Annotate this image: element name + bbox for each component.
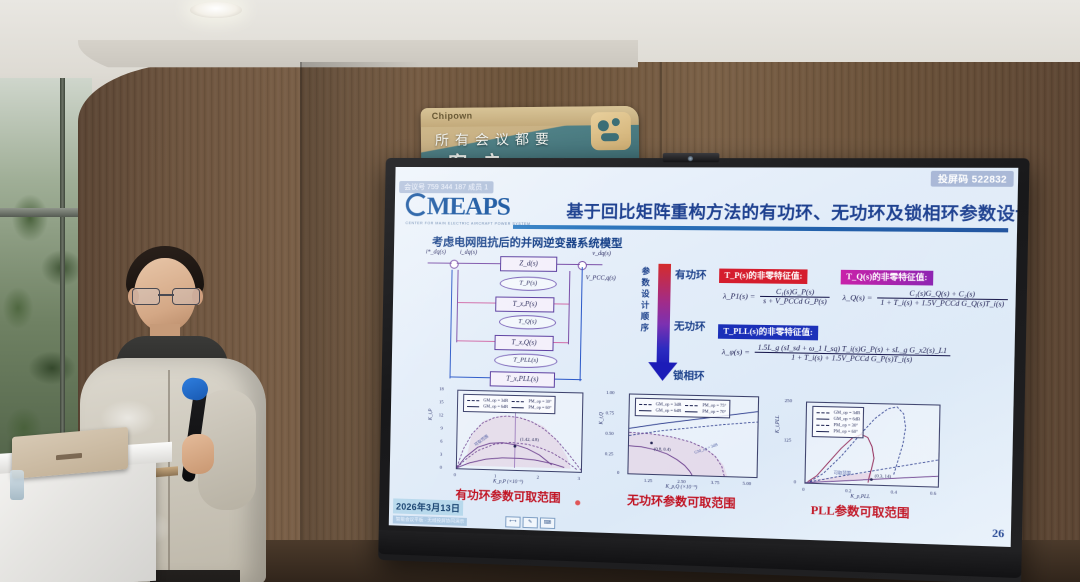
- formula-fraction: C₁(s)G_P(s) s + V_PCCd G_P(s): [760, 288, 830, 307]
- sub-stamp: 智能会议平板 · 无线投屏协同演示: [393, 515, 468, 526]
- formula-lhs: λ_Q(s) =: [842, 293, 872, 303]
- formula-fraction: 1.5L_g (sI_sd + ω_1 I_sq) T_i(s)G_P(s) +…: [754, 344, 950, 365]
- pen-tool-button[interactable]: ✎: [522, 517, 538, 529]
- y-tick: 0.75: [606, 410, 614, 415]
- legend-label: PM_op = 60°: [528, 404, 551, 411]
- diagram-ellipse: T_Q(s): [499, 315, 556, 330]
- legend-key: [686, 404, 699, 405]
- legend-key: [639, 410, 652, 411]
- y-tick: 0.25: [605, 451, 613, 456]
- legend-key: [512, 407, 524, 408]
- y-tick: 0: [794, 479, 797, 484]
- formula-denominator: s + V_PCCd G_P(s): [760, 296, 830, 306]
- formula-tp: T_P(s)的非零特征值: λ_P1(s) = C₁(s)G_P(s) s + …: [719, 264, 831, 307]
- chart-plot-area: GM_op = 3dB GM_op = 6dB PM_op = 30° PM_o…: [804, 402, 940, 488]
- legend-key: [816, 430, 829, 431]
- chart-caption: PLL参数可取范围: [778, 501, 943, 523]
- diagram-wire: [428, 262, 452, 263]
- diagram-wire: [457, 263, 500, 265]
- legend-key: [467, 406, 479, 407]
- diagram-wire: [449, 270, 452, 379]
- formula-caption: T_P(s)的非零特征值:: [719, 268, 808, 283]
- legend-key: [467, 399, 479, 400]
- formula-fraction: C₁(s)G_Q(s) + C₂(s) 1 + T_i(s) + 1.5V_PC…: [877, 289, 1008, 309]
- signal-label: i*_dq(s): [426, 249, 446, 255]
- keyboard-tool-button[interactable]: ⌨: [540, 517, 556, 529]
- formula-tpll: T_PLL(s)的非零特征值: λ_φ(s) = 1.5L_g (sI_sd +…: [717, 320, 950, 366]
- chart-caption: 无功环参数可取范围: [602, 491, 762, 513]
- chart-pll-loop: K_i,PLL GM_op = 3dB GM_op = 6dB PM_op = …: [778, 396, 945, 505]
- chart-plot-area: GM_op = 3dBPM_op = 30° GM_op = 6dBPM_op …: [456, 390, 584, 473]
- y-tick: 1.00: [606, 390, 614, 395]
- diagram-ellipse: T_P(s): [500, 276, 557, 291]
- x-tick: 0.4: [891, 489, 897, 494]
- formula-lhs: λ_P1(s) =: [723, 292, 756, 302]
- date-stamp: 2026年3月13日: [393, 498, 463, 515]
- y-tick: 6: [440, 439, 442, 444]
- formula-denominator: 1 + T_i(s) + 1.5V_PCCd G_Q(s)T_i(s): [877, 298, 1008, 309]
- legend-row: PM_op = 60°: [816, 428, 860, 435]
- legend-label: PM_op = 60°: [833, 428, 858, 435]
- arrow-vertical-label: 参数设计顺序: [638, 266, 652, 334]
- y-tick: 15: [439, 399, 444, 404]
- y-tick: 3: [440, 452, 442, 457]
- diagram-wire: [456, 270, 459, 343]
- chart-point-label: (1.42, 4.8): [520, 437, 539, 443]
- legend-row: GM_op = 6dBPM_op = 70°: [639, 407, 726, 415]
- display-screen[interactable]: 投屏码 522832 会议号 759 344 187 成员 1 MEAPS CE…: [389, 167, 1019, 547]
- legend-row: GM_op = 6dBPM_op = 60°: [467, 403, 551, 411]
- chart-legend: GM_op = 3dBPM_op = 75° GM_op = 6dBPM_op …: [635, 398, 731, 419]
- formula-tq: T_Q(s)的非零特征值: λ_Q(s) = C₁(s)G_Q(s) + C₂(…: [840, 266, 1008, 310]
- camera-module-icon: [663, 153, 720, 162]
- chart-reactive-power-loop: K_i,Q GM_op = 3dBPM_op = 75° GM_op = 6dB…: [602, 388, 763, 495]
- chart-ylabel: K_i,PLL: [775, 415, 781, 433]
- annotation-toolbar[interactable]: ⟷ ✎ ⌨: [505, 516, 555, 529]
- legend-key: [817, 412, 830, 413]
- logo-text: MEAPS: [426, 193, 510, 221]
- cast-code-badge: 投屏码 522832: [931, 171, 1014, 187]
- chart-active-power-loop: K_i,P GM_op = 3dBPM_op = 30° GM_op = 6dB…: [431, 384, 587, 489]
- signal-label: i_dq(s): [460, 250, 477, 256]
- summing-node: [450, 260, 459, 269]
- y-tick: 0: [617, 470, 619, 475]
- logo-wordmark: MEAPS: [406, 193, 548, 220]
- legend-key: [816, 418, 829, 419]
- presenter-legs: [150, 570, 240, 582]
- diagram-box: T_x,Q(s): [494, 335, 553, 351]
- chart-plot-area: GM_op = 3dBPM_op = 75° GM_op = 6dBPM_op …: [627, 393, 759, 478]
- legend-key: [512, 400, 524, 401]
- formula-caption: T_Q(s)的非零特征值:: [841, 269, 933, 285]
- resize-tool-button[interactable]: ⟷: [505, 516, 520, 528]
- presenter-hand: [182, 434, 214, 474]
- page-number: 26: [992, 527, 1004, 540]
- signal-label: v_dq(s): [592, 251, 611, 257]
- block-diagram: i*_dq(s) i_dq(s) v_dq(s) V_PCC,q(s) Z_d(…: [423, 251, 629, 384]
- legend-key: [816, 424, 829, 425]
- y-tick: 9: [440, 426, 442, 431]
- formula-caption: T_PLL(s)的非零特征值:: [718, 324, 818, 340]
- legend-key: [639, 403, 652, 404]
- legend-label: GM_op = 6dB: [656, 407, 682, 414]
- screenshot-root: Chipown 所有会议都要 为客 户解决问题: [0, 0, 1080, 582]
- diagram-ellipse: T_PLL(s): [494, 353, 557, 368]
- sign-brand-label: Chipown: [432, 111, 473, 121]
- cmeaps-logo: MEAPS CENTER FOR MAIN ELECTRIC AIRCRAFT …: [405, 193, 547, 226]
- arrow-bar: [657, 264, 671, 365]
- slide-title: 基于回比矩阵重构方法的有功环、无功环及锁相环参数设计: [566, 198, 1006, 225]
- y-tick: 18: [439, 386, 444, 391]
- laser-pointer-dot: [575, 500, 580, 505]
- x-tick: 0.2: [845, 488, 851, 493]
- legend-label: GM_op = 6dB: [483, 403, 508, 410]
- legend-label: PM_op = 70°: [702, 408, 726, 415]
- handshake-icon: [591, 112, 631, 150]
- x-tick: 0.6: [930, 491, 936, 496]
- sign-line-1: 所有会议都要: [435, 129, 555, 150]
- diagram-box: T_x,P(s): [495, 297, 554, 313]
- chart-point-label: (0.8, 0.4): [654, 446, 671, 452]
- chart-ylabel: K_i,P: [429, 409, 434, 421]
- water-bottle: [10, 470, 24, 500]
- ceiling-downlight: [190, 2, 242, 18]
- diagram-box: Z_d(s): [500, 256, 557, 272]
- section-heading: 考虑电网阻抗后的并网逆变器系统模型: [432, 233, 623, 251]
- chart-point-label: (0.3, 14): [875, 473, 891, 479]
- y-tick: 250: [785, 398, 792, 403]
- legend-key: [685, 411, 698, 412]
- presenter-glasses-bridge: [158, 294, 174, 296]
- loop-label-pll: 锁相环: [673, 367, 705, 383]
- loop-label-active: 有功环: [675, 266, 707, 282]
- diagram-wire: [580, 267, 584, 381]
- signal-label: V_PCC,q(s): [586, 275, 616, 281]
- y-tick: 125: [784, 437, 791, 442]
- title-underline: [513, 225, 1008, 233]
- meeting-info-bar: 会议号 759 344 187 成员 1: [399, 181, 493, 193]
- smart-display[interactable]: 投屏码 522832 会议号 759 344 187 成员 1 MEAPS CE…: [378, 158, 1029, 582]
- y-tick: 0.50: [605, 431, 613, 436]
- y-tick: 12: [439, 412, 444, 417]
- x-tick: 0: [802, 487, 805, 492]
- laptop-logo: [56, 453, 82, 460]
- diagram-wire: [555, 264, 580, 265]
- chart-ylabel: K_i,Q: [599, 412, 604, 424]
- design-order-arrow: 参数设计顺序 有功环 无功环 锁相环: [633, 264, 704, 388]
- logo-c-icon: [406, 193, 429, 216]
- loop-label-reactive: 无功环: [674, 317, 706, 333]
- y-tick: 0: [440, 465, 442, 470]
- chart-annotation: 可取范围: [834, 470, 851, 477]
- chart-legend: GM_op = 3dB GM_op = 6dB PM_op = 30° PM_o…: [812, 406, 865, 439]
- diagram-wire: [586, 264, 603, 265]
- diagram-wire: [568, 271, 571, 344]
- chart-legend: GM_op = 3dBPM_op = 30° GM_op = 6dBPM_op …: [463, 394, 556, 414]
- formula-lhs: λ_φ(s) =: [722, 347, 750, 357]
